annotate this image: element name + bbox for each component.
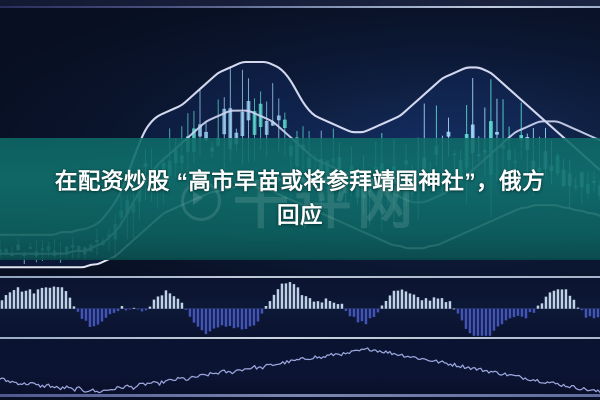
macd-histogram [0,278,600,337]
news-thumbnail-image: 千评网 在配资炒股 “高市早苗或将参拜靖国神社”，俄方 回应 [0,0,600,400]
bottom-border-line [0,394,600,397]
headline-line-1: 在配资炒股 “高市早苗或将参拜靖国神社”，俄方 [55,165,545,199]
macd-histogram-panel [0,278,600,337]
headline-overlay-band: 千评网 在配资炒股 “高市早苗或将参拜靖国神社”，俄方 回应 [0,138,600,260]
top-border-light [0,6,600,8]
headline-title: 在配资炒股 “高市早苗或将参拜靖国神社”，俄方 回应 [55,165,545,233]
secondary-indicator-line [0,339,600,398]
secondary-indicator-panel [0,339,600,398]
headline-line-2: 回应 [55,199,545,233]
